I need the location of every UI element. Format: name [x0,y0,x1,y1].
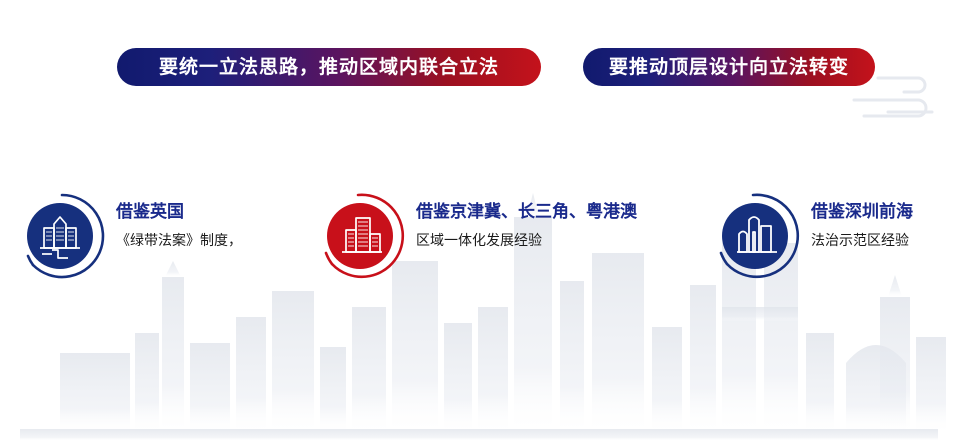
item-1-subtitle: 《绿带法案》制度， [116,232,242,250]
item-2-title: 借鉴京津冀、长三角、粤港澳 [416,202,637,223]
item-2-subtitle: 区域一体化发展经验 [416,232,637,250]
item-3-title: 借鉴深圳前海 [811,202,913,223]
skyline-towers-icon [709,188,805,284]
office-tower-icon [314,188,410,284]
item-3-subtitle: 法治示范区经验 [811,232,913,250]
badge-1 [14,188,110,284]
badge-2 [314,188,410,284]
reference-item-3: 借鉴深圳前海 法治示范区经验 [709,188,913,284]
slide-canvas: 要统一立法思路，推动区域内联合立法 要推动顶层设计向立法转变 [0,0,954,447]
item-2-text-block: 借鉴京津冀、长三角、粤港澳 区域一体化发展经验 [416,188,637,250]
banner-2-text: 要推动顶层设计向立法转变 [609,58,849,77]
banner-1-text: 要统一立法思路，推动区域内联合立法 [159,58,499,77]
reference-item-2: 借鉴京津冀、长三角、粤港澳 区域一体化发展经验 [314,188,637,284]
headline-banner-2: 要推动顶层设计向立法转变 [583,48,875,86]
item-3-text-block: 借鉴深圳前海 法治示范区经验 [811,188,913,250]
item-1-title: 借鉴英国 [116,202,242,223]
item-1-text-block: 借鉴英国 《绿带法案》制度， [116,188,242,250]
headline-banner-1: 要统一立法思路，推动区域内联合立法 [117,48,541,86]
city-buildings-icon [14,188,110,284]
badge-3 [709,188,805,284]
reference-item-1: 借鉴英国 《绿带法案》制度， [14,188,242,284]
